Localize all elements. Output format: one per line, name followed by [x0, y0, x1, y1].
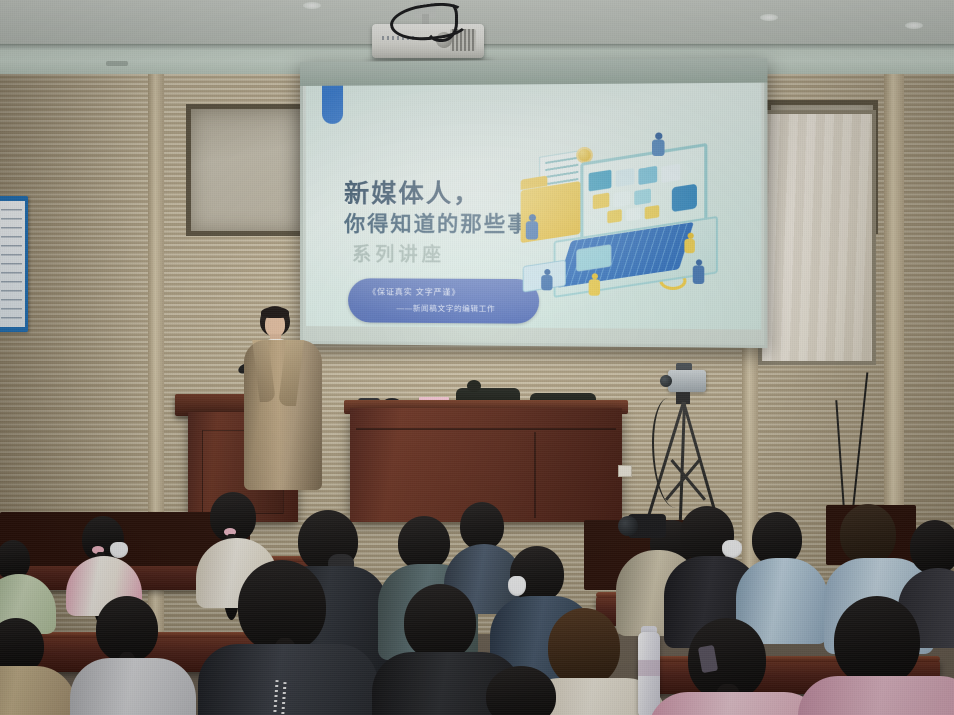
head [834, 596, 920, 686]
notice-board-text-lines [1, 209, 22, 319]
head [460, 502, 504, 550]
water-bottle-label [638, 660, 660, 676]
illustration-tile [589, 170, 612, 192]
torso [798, 676, 954, 715]
notice-board-sheet [0, 201, 25, 327]
presenter-coat-shadow [244, 340, 322, 490]
illustration-tile [614, 190, 631, 207]
illustration-person-body [526, 221, 538, 239]
notice-board [0, 196, 28, 332]
head head-brown [840, 504, 896, 564]
slide-topic-line1: 《保证真实 文字严谨》 [368, 286, 460, 298]
face-mask [722, 540, 742, 558]
slide-accent-shape [322, 86, 343, 124]
window-curtain [762, 114, 872, 361]
ceiling-downlight [303, 2, 321, 9]
illustration-tile [626, 207, 641, 222]
illustration-person-body [693, 265, 705, 283]
wall-outlet [618, 465, 632, 477]
ceiling-downlight [760, 14, 778, 21]
camcorder-body [668, 370, 706, 392]
dslr-lens [618, 516, 638, 536]
torso [0, 666, 76, 715]
illustration-person-body [652, 140, 665, 156]
illustration-tile [661, 164, 680, 183]
presidium-table-panel-split [534, 432, 536, 518]
head [404, 584, 476, 660]
illustration-person-head [529, 214, 536, 221]
ceiling-downlight [905, 22, 923, 29]
illustration-tile [645, 205, 660, 220]
head [910, 520, 954, 574]
wall-framed-panel-left [186, 104, 306, 236]
projection-screen: 新媒体人， 你得知道的那些事 系列讲座 《保证真实 文字严谨》 ——新闻稿文字的… [300, 58, 767, 348]
illustration-tile [616, 168, 635, 187]
illustration-tile [638, 166, 657, 185]
face-mask [508, 576, 526, 596]
lecture-hall-photo: 新媒体人， 你得知道的那些事 系列讲座 《保证真实 文字严谨》 ——新闻稿文字的… [0, 0, 954, 715]
torso [70, 658, 196, 715]
screen-roller-housing [300, 58, 767, 86]
curtained-window [758, 110, 876, 365]
face-mask [110, 542, 128, 558]
camcorder-lens [660, 375, 672, 387]
screen-surface: 新媒体人， 你得知道的那些事 系列讲座 《保证真实 文字严谨》 ——新闻稿文字的… [306, 83, 761, 330]
illustration-tile [593, 193, 610, 210]
presidium-chair-headrest [467, 380, 481, 392]
illustration-person-body [684, 239, 694, 253]
slide-topic-line2: ——新闻稿文字的编辑工作 [396, 303, 495, 315]
slide-subtitle: 系列讲座 [352, 239, 445, 266]
ceiling-projector [372, 8, 484, 60]
slide-title-line2: 你得知道的那些事 [344, 208, 531, 238]
illustration-person-body [589, 279, 600, 295]
slide-title-line1: 新媒体人， [344, 174, 481, 210]
presenter [236, 306, 332, 496]
torso [198, 644, 378, 715]
illustration-tile [607, 209, 622, 223]
illustration-person-body [541, 275, 552, 290]
illustration-person-head [655, 132, 662, 139]
slide-topic-pill: 《保证真实 文字严谨》 ——新闻稿文字的编辑工作 [348, 278, 539, 324]
tripod-cable [652, 398, 692, 508]
illustration-tile [672, 184, 697, 212]
illustration-tile [634, 188, 651, 205]
projector-cable [424, 0, 458, 42]
head [398, 516, 450, 570]
head head-lightbrown [548, 608, 620, 686]
presenter-hair-front [261, 307, 289, 318]
presidium-table-seam [356, 428, 616, 430]
ceiling-vent [106, 61, 128, 66]
slide-illustration [517, 130, 737, 317]
